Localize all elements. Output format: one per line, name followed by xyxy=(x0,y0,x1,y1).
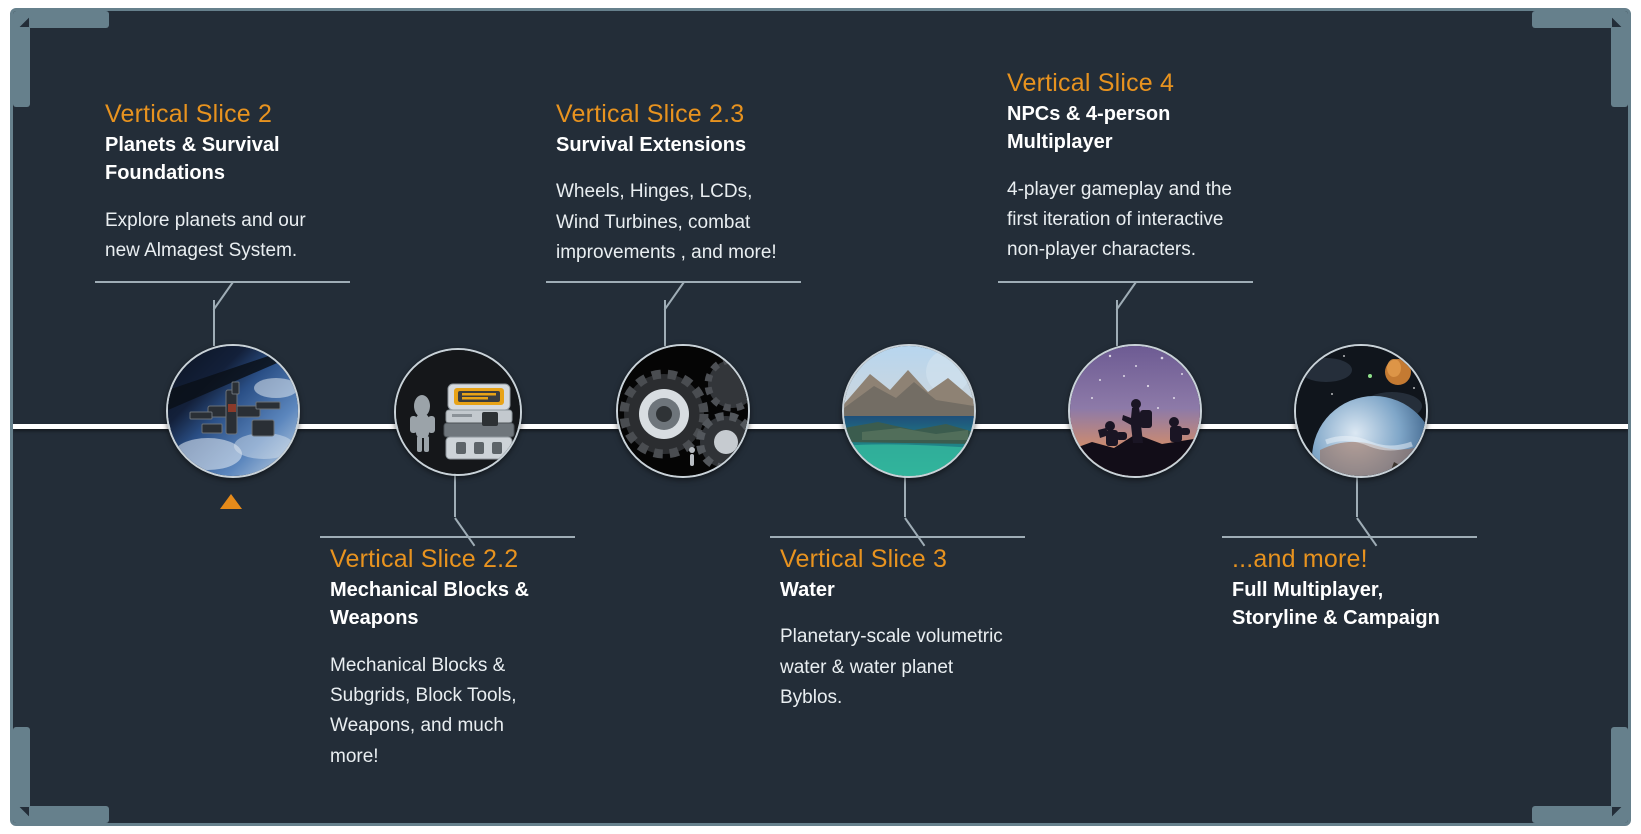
milestone-kicker: Vertical Slice 3 xyxy=(780,545,1052,574)
milestone-headline: Mechanical Blocks & Weapons xyxy=(330,576,586,633)
milestone-headline: Full Multiplayer, Storyline & Campaign xyxy=(1232,576,1504,633)
milestone-image-vs22[interactable] xyxy=(394,348,522,476)
connector-rule-vs23 xyxy=(546,281,801,283)
corner-bracket-top-right xyxy=(1532,11,1628,107)
milestone-body: Mechanical Blocks & Subgrids, Block Tool… xyxy=(330,651,586,773)
connector-rule-vs3 xyxy=(770,536,1025,538)
current-stage-marker xyxy=(220,494,242,509)
milestone-label-vs2: Vertical Slice 2 Planets & Survival Foun… xyxy=(105,100,357,266)
milestone-body: Wheels, Hinges, LCDs, Wind Turbines, com… xyxy=(556,177,822,268)
milestone-kicker: Vertical Slice 2.2 xyxy=(330,545,586,574)
astronauts-at-dusk-icon xyxy=(1070,346,1200,476)
milestone-label-vs23: Vertical Slice 2.3 Survival Extensions W… xyxy=(556,100,822,268)
milestone-image-vs3[interactable] xyxy=(842,344,976,478)
connector-stem-vs22 xyxy=(454,471,456,517)
ocean-coastline-icon xyxy=(844,346,974,476)
milestone-kicker: ...and more! xyxy=(1232,545,1504,574)
milestone-body: 4-player gameplay and the first iteratio… xyxy=(1007,175,1273,266)
milestone-label-vs4: Vertical Slice 4 NPCs & 4-person Multipl… xyxy=(1007,69,1273,266)
connector-stem-vs23 xyxy=(664,300,666,346)
milestone-body: Planetary-scale volumetric water & water… xyxy=(780,622,1052,713)
milestone-kicker: Vertical Slice 2 xyxy=(105,100,357,129)
rover-wheels-icon xyxy=(618,346,748,476)
connector-rule-more xyxy=(1222,536,1477,538)
space-station-over-earth-icon xyxy=(168,346,298,476)
corner-bracket-bottom-right xyxy=(1532,727,1628,823)
corner-bracket-bottom-left xyxy=(13,727,109,823)
roadmap-infographic: Vertical Slice 2 Planets & Survival Foun… xyxy=(0,0,1641,834)
milestone-label-vs3: Vertical Slice 3 Water Planetary-scale v… xyxy=(780,545,1052,713)
milestone-label-vs22: Vertical Slice 2.2 Mechanical Blocks & W… xyxy=(330,545,586,772)
connector-rule-vs22 xyxy=(320,536,575,538)
milestone-kicker: Vertical Slice 2.3 xyxy=(556,100,822,129)
milestone-image-more[interactable] xyxy=(1294,344,1428,478)
milestone-headline: NPCs & 4-person Multiplayer xyxy=(1007,100,1273,157)
connector-stem-vs2 xyxy=(213,300,215,346)
milestone-body: Explore planets and our new Almagest Sys… xyxy=(105,206,357,267)
connector-stem-vs4 xyxy=(1116,300,1118,346)
planet-and-moon-icon xyxy=(1296,346,1426,476)
corner-bracket-top-left xyxy=(13,11,109,107)
connector-rule-vs2 xyxy=(95,281,350,283)
connector-rule-vs4 xyxy=(998,281,1253,283)
milestone-headline: Survival Extensions xyxy=(556,131,822,159)
roadmap-frame: Vertical Slice 2 Planets & Survival Foun… xyxy=(10,8,1631,826)
milestone-headline: Water xyxy=(780,576,1052,604)
milestone-kicker: Vertical Slice 4 xyxy=(1007,69,1273,98)
rotor-block-and-astronaut-icon xyxy=(396,350,520,474)
milestone-image-vs23[interactable] xyxy=(616,344,750,478)
milestone-headline: Planets & Survival Foundations xyxy=(105,131,357,188)
milestone-image-vs4[interactable] xyxy=(1068,344,1202,478)
milestone-label-more: ...and more! Full Multiplayer, Storyline… xyxy=(1232,545,1504,633)
milestone-image-vs2[interactable] xyxy=(166,344,300,478)
